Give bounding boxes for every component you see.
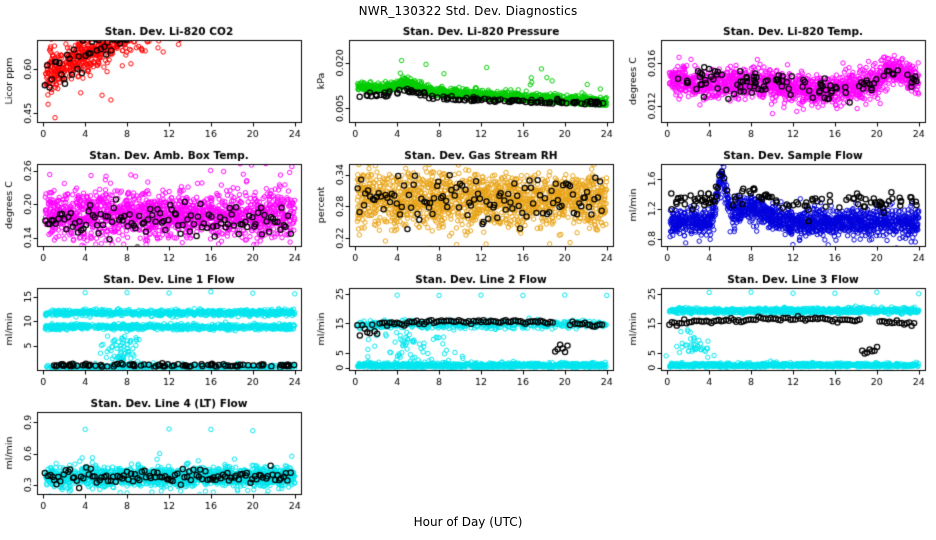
plot-grid [0, 0, 936, 540]
x-axis-label: Hour of Day (UTC) [0, 515, 936, 529]
plot-canvas [0, 0, 936, 540]
